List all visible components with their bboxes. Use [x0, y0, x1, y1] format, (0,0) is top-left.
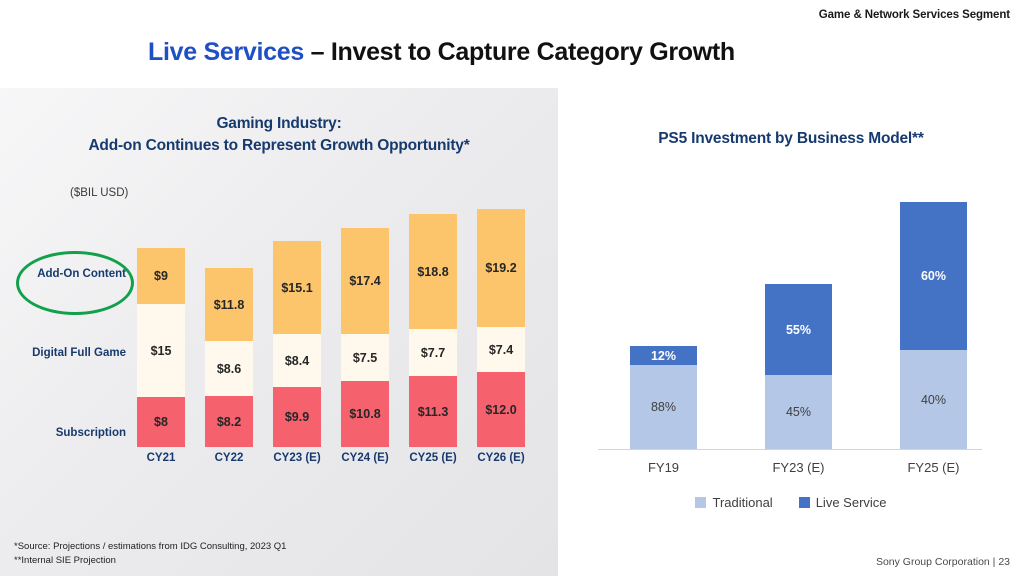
bar-cy22-segment-add-on-content: $11.8 — [205, 268, 253, 341]
bar-cy24-segment-digital-full-game: $7.5 — [341, 334, 389, 381]
bar-cy22-segment-digital-full-game: $8.6 — [205, 341, 253, 396]
bar-cy24-segment-add-on-content: $17.4 — [341, 228, 389, 334]
bar-label: $11.8 — [214, 298, 245, 312]
gaming-industry-chart: $9 $15 $8 CY21 $11.8 $8.6 $8.2 CY22 $15.… — [0, 0, 558, 576]
x-tick-label-cy22: CY22 — [215, 452, 244, 464]
bar-label: $17.4 — [349, 274, 380, 288]
legend-label-live-service: Live Service — [816, 495, 887, 510]
x-axis-line — [598, 449, 982, 450]
bar-label: $9 — [154, 269, 168, 283]
bar-cy23-segment-digital-full-game: $8.4 — [273, 334, 321, 387]
bar-cy24-segment-subscription: $10.8 — [341, 381, 389, 447]
legend-label-traditional: Traditional — [712, 495, 772, 510]
bar-label: $8.4 — [285, 354, 309, 368]
bar-cy22-segment-subscription: $8.2 — [205, 396, 253, 447]
x-tick-label-fy25: FY25 (E) — [907, 460, 959, 475]
bar-cy21-segment-subscription: $8 — [137, 397, 185, 447]
bar-fy23-segment-traditional: 45% — [765, 375, 832, 449]
bar-label: 55% — [786, 323, 811, 337]
bar-label: $18.8 — [417, 265, 448, 279]
bar-label: $8.6 — [217, 362, 241, 376]
bar-label: $7.5 — [353, 351, 377, 365]
bar-label: $15 — [151, 344, 172, 358]
bar-label: $19.2 — [485, 261, 516, 275]
x-tick-label-cy21: CY21 — [147, 452, 176, 464]
footnote-source: *Source: Projections / estimations from … — [14, 540, 286, 554]
bar-cy25-segment-digital-full-game: $7.7 — [409, 329, 457, 376]
x-tick-label-cy23: CY23 (E) — [273, 452, 320, 464]
legend-item-live-service[interactable]: Live Service — [799, 495, 887, 510]
bar-fy23-segment-live-service: 55% — [765, 284, 832, 375]
bar-cy26-segment-add-on-content: $19.2 — [477, 209, 525, 327]
x-tick-label-fy23: FY23 (E) — [772, 460, 824, 475]
bar-fy25-segment-traditional: 40% — [900, 350, 967, 449]
bar-label: $8.2 — [217, 415, 241, 429]
bar-cy23-segment-subscription: $9.9 — [273, 387, 321, 447]
bar-label: 40% — [921, 393, 946, 407]
bar-fy25-segment-live-service: 60% — [900, 202, 967, 350]
legend-item-traditional[interactable]: Traditional — [695, 495, 772, 510]
bar-cy26-segment-subscription: $12.0 — [477, 372, 525, 447]
bar-cy21-segment-digital-full-game: $15 — [137, 304, 185, 397]
bar-label: $15.1 — [281, 281, 312, 295]
ps5-investment-chart: 12% 88% FY19 55% 45% FY23 (E) 60% 40% FY… — [558, 0, 1024, 576]
bar-label: 60% — [921, 269, 946, 283]
bar-fy19-segment-traditional: 88% — [630, 365, 697, 449]
bar-cy25-segment-add-on-content: $18.8 — [409, 214, 457, 329]
bar-label: $7.7 — [421, 346, 445, 360]
x-tick-label-cy25: CY25 (E) — [409, 452, 456, 464]
bar-label: $11.3 — [418, 405, 449, 419]
footnotes: *Source: Projections / estimations from … — [14, 540, 286, 569]
legend-swatch-traditional-icon — [695, 497, 706, 508]
bar-label: $10.8 — [349, 407, 380, 421]
footnote-internal: **Internal SIE Projection — [14, 554, 286, 568]
legend-swatch-live-service-icon — [799, 497, 810, 508]
bar-label: $9.9 — [285, 410, 309, 424]
slide: Game & Network Services Segment Live Ser… — [0, 0, 1024, 576]
bar-label: $7.4 — [489, 343, 513, 357]
bar-label: 45% — [786, 405, 811, 419]
x-tick-label-cy24: CY24 (E) — [341, 452, 388, 464]
bar-fy19-segment-live-service: 12% — [630, 346, 697, 365]
bar-label: 12% — [651, 349, 676, 363]
bar-label: $8 — [154, 415, 168, 429]
right-chart-legend: Traditional Live Service — [558, 495, 1024, 510]
bar-cy23-segment-add-on-content: $15.1 — [273, 241, 321, 334]
bar-cy26-segment-digital-full-game: $7.4 — [477, 327, 525, 372]
bar-cy25-segment-subscription: $11.3 — [409, 376, 457, 447]
x-tick-label-cy26: CY26 (E) — [477, 452, 524, 464]
bar-cy21-segment-add-on-content: $9 — [137, 248, 185, 304]
bar-label: 88% — [651, 400, 676, 414]
footer-corporation: Sony Group Corporation | 23 — [876, 556, 1010, 568]
x-tick-label-fy19: FY19 — [648, 460, 679, 475]
bar-label: $12.0 — [485, 403, 516, 417]
